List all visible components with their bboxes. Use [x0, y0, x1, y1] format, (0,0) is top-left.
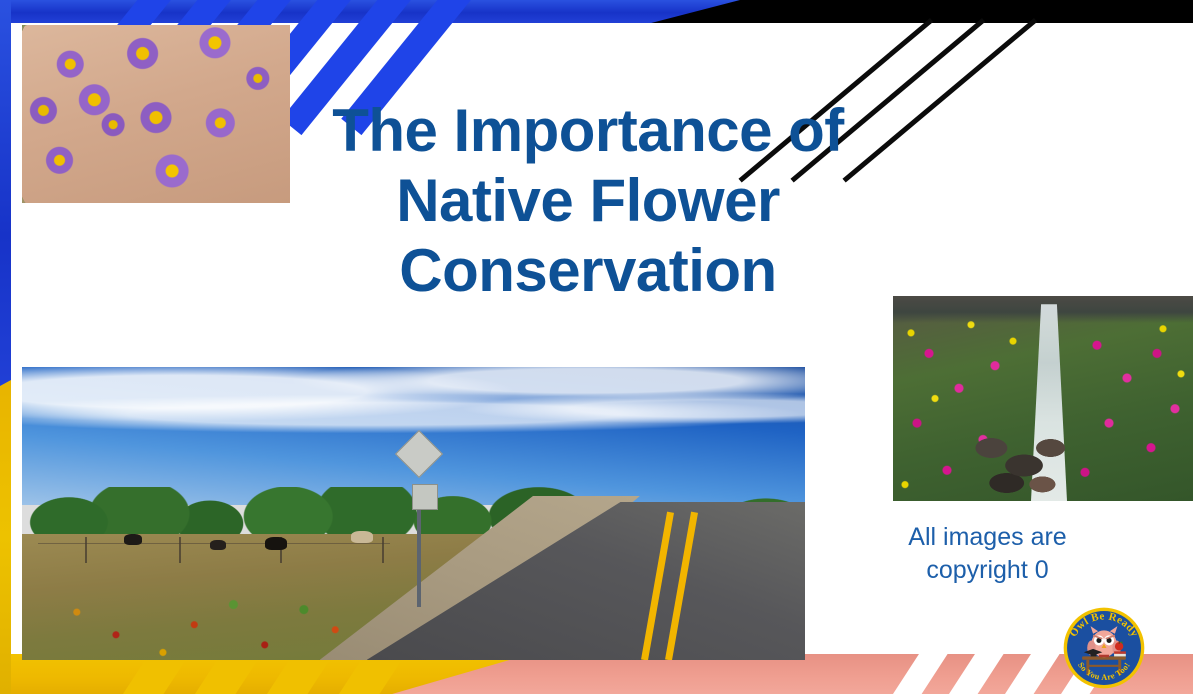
cow-silhouette — [210, 540, 226, 550]
stream-rocks — [971, 427, 1073, 497]
slide-canvas: The Importance of Native Flower Conserva… — [0, 0, 1193, 694]
image-copyright-caption: All images are copyright 0 — [855, 521, 1120, 586]
cow-silhouette — [124, 534, 142, 545]
title-line-3: Conservation — [243, 236, 933, 306]
caption-line-1: All images are — [855, 521, 1120, 554]
page-title: The Importance of Native Flower Conserva… — [243, 96, 933, 307]
cow-silhouette — [265, 537, 287, 550]
left-edge-blue-bar — [0, 0, 11, 392]
caption-line-2: copyright 0 — [855, 554, 1120, 587]
image-roadside-wildflowers — [22, 367, 805, 660]
top-right-diagonal-lines — [930, 18, 1193, 128]
left-edge-gold-bar — [0, 380, 11, 694]
top-blue-band — [0, 0, 740, 23]
title-line-2: Native Flower — [243, 166, 933, 236]
image-alpine-stream-wildflowers — [893, 296, 1193, 501]
title-line-1: The Importance of — [243, 96, 933, 166]
owl-be-ready-logo[interactable]: Owl Be Ready So You Are Too! — [1062, 606, 1146, 690]
road-sign-plate — [412, 484, 438, 510]
cow-silhouette — [351, 531, 373, 543]
